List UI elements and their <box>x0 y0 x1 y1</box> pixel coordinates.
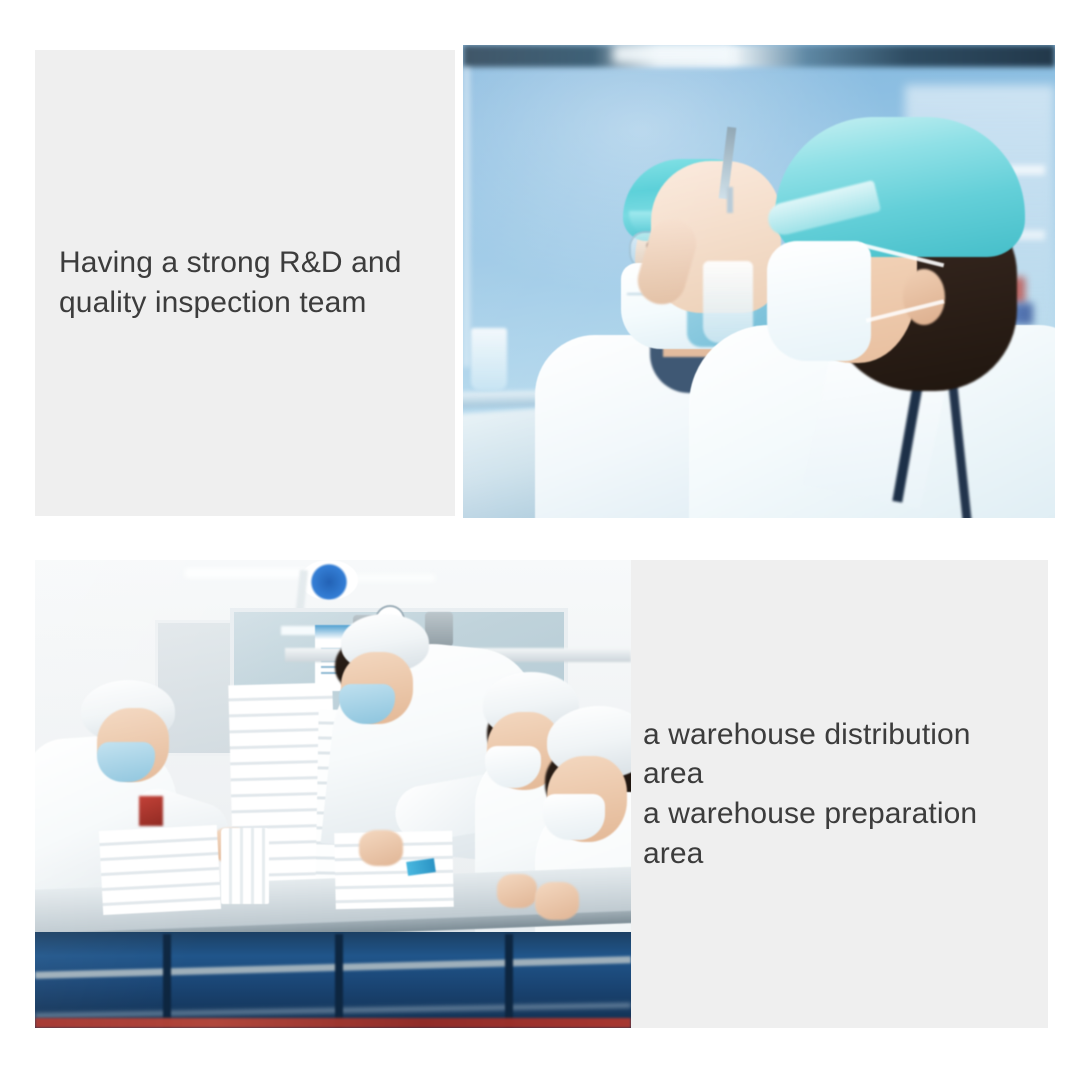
floor-red-strip <box>35 1018 631 1028</box>
warehouse-caption-panel: a warehouse distribution area a warehous… <box>631 560 1048 1028</box>
table-leg-c <box>505 934 513 1028</box>
lab-ceiling-light <box>613 45 733 63</box>
packer-d-face-mask <box>543 794 605 840</box>
lab-glass-beaker <box>471 328 507 390</box>
packer-d-hand <box>535 882 579 920</box>
lab-technician-profile <box>719 73 1049 518</box>
packer-b-hand <box>359 830 403 866</box>
warehouse-packaging-photo <box>35 560 631 1028</box>
lab-quality-inspection-photo <box>463 45 1055 518</box>
company-logo-icon <box>300 560 358 600</box>
rnd-caption-panel: Having a strong R&D and quality inspecti… <box>35 50 455 516</box>
technician-profile-ear <box>903 269 945 325</box>
technician-profile-hairnet <box>775 117 1025 257</box>
table-leg-b <box>335 934 343 1028</box>
warehouse-caption-text: a warehouse distribution area a warehous… <box>631 715 1048 873</box>
table-leg-a <box>163 934 171 1028</box>
lab-wall-seam <box>463 67 470 367</box>
packer-c-hand <box>497 874 537 908</box>
technician-profile-face-mask <box>767 241 871 361</box>
lab-ceiling-bar <box>463 45 1055 67</box>
rnd-caption-text: Having a strong R&D and quality inspecti… <box>35 243 411 322</box>
carton-stack-left-foreground <box>99 825 221 915</box>
warehouse-ceiling-light-a <box>185 568 305 578</box>
page-root: Having a strong R&D and quality inspecti… <box>0 0 1080 1080</box>
red-item-on-table <box>139 796 163 826</box>
lab-scene-background <box>463 45 1055 518</box>
steel-vessel-b <box>425 612 453 648</box>
bottle-row-foreground <box>221 828 269 904</box>
warehouse-scene-background <box>35 560 631 1028</box>
